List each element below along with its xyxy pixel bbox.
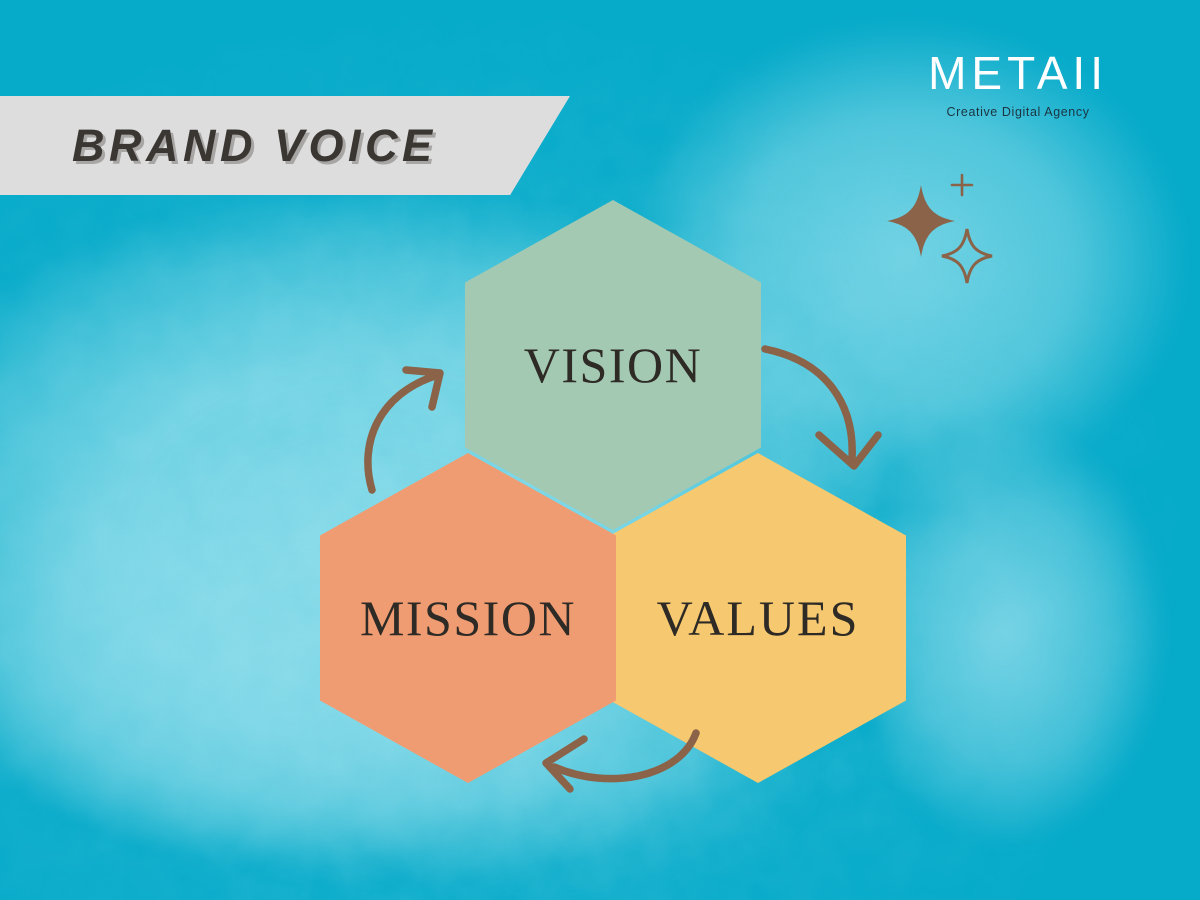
brand-voice-banner: BRAND VOICE xyxy=(0,96,570,195)
logo-wordmark: METAII xyxy=(928,50,1108,96)
logo-tagline: Creative Digital Agency xyxy=(928,105,1108,119)
hexagon-vision-label: VISION xyxy=(524,336,702,394)
sparkle-outline-icon xyxy=(942,229,992,283)
sparkle-cluster xyxy=(885,165,1015,285)
sparkle-filled-icon xyxy=(887,185,955,257)
watercolor-wash-right xyxy=(880,380,1200,900)
hexagon-values-label: VALUES xyxy=(657,589,860,647)
brand-logo: METAII Creative Digital Agency xyxy=(928,50,1108,119)
plus-small-icon xyxy=(952,175,972,195)
hexagon-mission-label: MISSION xyxy=(360,589,576,647)
page-title: BRAND VOICE xyxy=(72,120,437,172)
poster-canvas: BRAND VOICE METAII Creative Digital Agen… xyxy=(0,0,1200,900)
